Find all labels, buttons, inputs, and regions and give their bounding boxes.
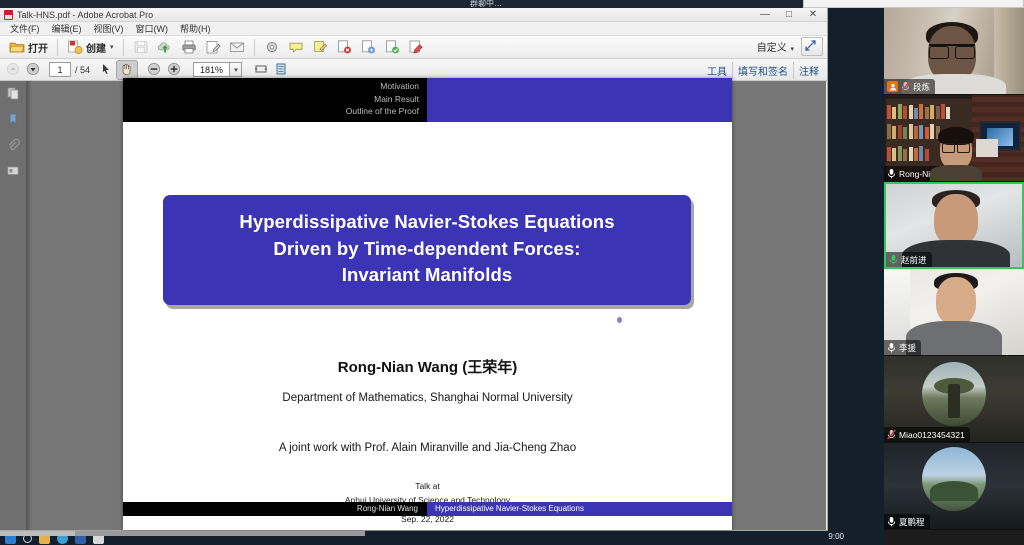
slide-footer-author: Rong-Nian Wang — [123, 502, 427, 516]
page-number-input[interactable]: 1 — [49, 62, 71, 77]
page-total-label: / 54 — [75, 65, 90, 75]
delete-page-button[interactable] — [332, 37, 356, 57]
chevron-down-icon: ▾ — [790, 46, 794, 53]
background-window-strip — [803, 0, 1024, 8]
sticky-note-button[interactable] — [284, 37, 308, 57]
slide-footer-title: Hyperdissipative Navier-Stokes Equations — [427, 502, 732, 516]
slide-header: Motivation Main Result Outline of the Pr… — [123, 78, 732, 122]
minimize-button[interactable]: — — [753, 8, 777, 21]
settings-button[interactable] — [260, 37, 284, 57]
zoom-in-button[interactable] — [165, 61, 185, 79]
slide-nav-item-outline: Outline of the Proof — [123, 105, 419, 118]
slide-nav-item-main-result: Main Result — [123, 93, 419, 106]
main-toolbar: 打开 创建 ▾ — [0, 36, 827, 59]
participant-name-bar: 夏鹏程 — [884, 514, 930, 529]
slide-title-line-3: Invariant Manifolds — [173, 262, 681, 289]
previous-page-icon — [6, 62, 22, 78]
slide-author: Rong-Nian Wang (王荣年) — [123, 356, 732, 377]
participant-name-bar: Miao0123454321 — [884, 427, 970, 442]
open-folder-icon — [9, 39, 25, 55]
fit-page-button[interactable] — [272, 61, 292, 79]
taskbar-clock[interactable]: 9:00 — [828, 532, 844, 541]
menu-item-help[interactable]: 帮助(H) — [174, 22, 217, 36]
extract-page-icon — [360, 39, 376, 55]
mic-active-icon — [889, 254, 898, 265]
previous-page-button[interactable] — [4, 61, 24, 79]
sticky-note-icon — [288, 39, 304, 55]
fit-width-icon — [254, 62, 270, 78]
toolbar-separator — [57, 39, 58, 56]
maximize-button[interactable]: □ — [777, 8, 801, 21]
video-participant-panel: 段炼 Rong-Nian,Wang — [884, 8, 1024, 537]
menu-item-edit[interactable]: 编辑(E) — [46, 22, 88, 36]
open-button-label: 打开 — [28, 40, 48, 55]
video-tile[interactable]: 段炼 — [884, 8, 1024, 95]
screen: 群聊中… Talk-HNS.pdf - Adobe Acrobat Pro — … — [0, 0, 1024, 545]
window-edge-strip — [0, 531, 365, 536]
slide-body: Hyperdissipative Navier-Stokes Equations… — [123, 122, 732, 516]
save-icon — [133, 39, 149, 55]
highlight-icon — [312, 39, 328, 55]
mic-icon — [887, 516, 896, 527]
mic-muted-icon — [901, 81, 910, 92]
slide-section-nav: Motivation Main Result Outline of the Pr… — [123, 80, 427, 118]
acrobat-title-bar: Talk-HNS.pdf - Adobe Acrobat Pro — □ ✕ — [0, 8, 827, 22]
slide-footer: Rong-Nian Wang Hyperdissipative Navier-S… — [123, 502, 732, 516]
customize-label: 自定义 — [757, 43, 787, 54]
mic-muted-icon — [887, 429, 896, 440]
video-tile[interactable]: 夏鹏程 — [884, 443, 1024, 530]
extract-page-button[interactable] — [356, 37, 380, 57]
menu-item-view[interactable]: 视图(V) — [88, 22, 130, 36]
pdf-page[interactable]: Motivation Main Result Outline of the Pr… — [123, 78, 732, 530]
fit-page-icon — [274, 62, 290, 78]
select-tool-icon — [99, 62, 115, 78]
expand-toolbar-icon — [804, 39, 820, 55]
save-button[interactable] — [129, 37, 153, 57]
navigation-rail — [0, 81, 27, 530]
video-tile[interactable]: 赵前进 — [884, 182, 1024, 269]
video-tile[interactable]: Miao0123454321 — [884, 356, 1024, 443]
customize-button[interactable]: 自定义 ▾ — [753, 37, 798, 56]
mic-icon — [887, 168, 896, 179]
acrobat-app-icon — [4, 10, 13, 20]
zoom-dropdown-button[interactable]: ▾ — [229, 62, 242, 77]
video-tile[interactable]: Rong-Nian,Wang — [884, 95, 1024, 182]
windows-taskbar: 9:00 — [0, 531, 884, 545]
next-page-icon — [26, 62, 42, 78]
stamp-icon — [408, 39, 424, 55]
page-thumbnails-button[interactable] — [0, 81, 27, 107]
tool-links: 工具 填写和签名 注释 — [702, 62, 824, 79]
hand-tool-icon — [119, 62, 135, 78]
page-thumbnails-icon — [6, 86, 22, 102]
zoom-in-icon — [167, 62, 183, 78]
select-tool-button[interactable] — [97, 61, 117, 79]
edit-pdf-icon — [205, 39, 221, 55]
participant-name: 夏鹏程 — [899, 516, 925, 528]
toolbar-separator — [254, 39, 255, 56]
menu-item-file[interactable]: 文件(F) — [4, 22, 46, 36]
participant-name: 赵前进 — [901, 254, 927, 266]
attachments-button[interactable] — [0, 133, 27, 159]
slide-talk-at-label: Talk at — [123, 480, 732, 494]
attachments-icon — [6, 138, 22, 154]
bookmarks-icon — [6, 112, 22, 128]
slide-title-line-2: Driven by Time-dependent Forces: — [173, 236, 681, 263]
expand-toolbar-button[interactable] — [801, 37, 823, 56]
slide-affiliation: Department of Mathematics, Shanghai Norm… — [123, 392, 732, 404]
protect-button[interactable] — [380, 37, 404, 57]
participant-name-bar: 赵前进 — [886, 252, 932, 267]
panel-bottom-fill — [884, 537, 1024, 545]
email-button[interactable] — [225, 37, 249, 57]
gear-icon — [264, 39, 280, 55]
print-button[interactable] — [177, 37, 201, 57]
comment-link[interactable]: 注释 — [794, 62, 824, 79]
mouse-cursor — [617, 317, 622, 323]
cloud-upload-button[interactable] — [153, 37, 177, 57]
print-icon — [181, 39, 197, 55]
layers-icon — [6, 164, 22, 180]
close-button[interactable]: ✕ — [801, 8, 825, 21]
participant-name-bar: 段炼 — [884, 79, 935, 94]
protect-icon — [384, 39, 400, 55]
zoom-out-button[interactable] — [145, 61, 165, 79]
email-icon — [229, 39, 245, 55]
slide-nav-item-motivation: Motivation — [123, 80, 419, 93]
open-button[interactable]: 打开 — [5, 37, 52, 57]
video-tile[interactable]: 李援 — [884, 269, 1024, 356]
create-icon — [67, 39, 83, 55]
edit-pdf-button[interactable] — [201, 37, 225, 57]
layers-button[interactable] — [0, 159, 27, 185]
desktop-top-strip: 群聊中… — [0, 0, 1024, 8]
menu-bar: 文件(F) 编辑(E) 视图(V) 窗口(W) 帮助(H) — [0, 22, 827, 36]
cloud-upload-icon — [157, 39, 173, 55]
highlight-button[interactable] — [308, 37, 332, 57]
stamp-button[interactable] — [404, 37, 428, 57]
delete-page-icon — [336, 39, 352, 55]
slide-joint-work: A joint work with Prof. Alain Miranville… — [123, 442, 732, 454]
chevron-down-icon: ▾ — [234, 66, 238, 74]
slide-title-box: Hyperdissipative Navier-Stokes Equations… — [163, 195, 691, 305]
window-title: Talk-HNS.pdf - Adobe Acrobat Pro — [17, 10, 153, 20]
menu-item-window[interactable]: 窗口(W) — [130, 22, 175, 36]
zoom-level-input[interactable]: 181% — [193, 62, 229, 77]
zoom-out-icon — [147, 62, 163, 78]
toolbar-right-group: 自定义 ▾ — [753, 37, 823, 56]
bookmarks-button[interactable] — [0, 107, 27, 133]
slide-title-line-1: Hyperdissipative Navier-Stokes Equations — [173, 209, 681, 236]
tools-link[interactable]: 工具 — [702, 62, 733, 79]
participant-name-bar: 李援 — [884, 340, 921, 355]
create-button-label: 创建 — [86, 40, 106, 55]
toolbar-separator — [123, 39, 124, 56]
window-controls: — □ ✕ — [753, 8, 825, 21]
participant-name: 段炼 — [913, 81, 930, 93]
hand-tool-button[interactable] — [117, 61, 137, 79]
participant-name: 李援 — [899, 342, 916, 354]
chevron-down-icon: ▾ — [110, 43, 114, 51]
fit-width-button[interactable] — [252, 61, 272, 79]
fill-and-sign-link[interactable]: 填写和签名 — [733, 62, 794, 79]
host-icon — [887, 81, 898, 92]
mic-icon — [887, 342, 896, 353]
create-button[interactable]: 创建 ▾ — [63, 37, 118, 57]
next-page-button[interactable] — [24, 61, 44, 79]
participant-name: Miao0123454321 — [899, 430, 965, 440]
rail-shadow — [27, 81, 32, 530]
